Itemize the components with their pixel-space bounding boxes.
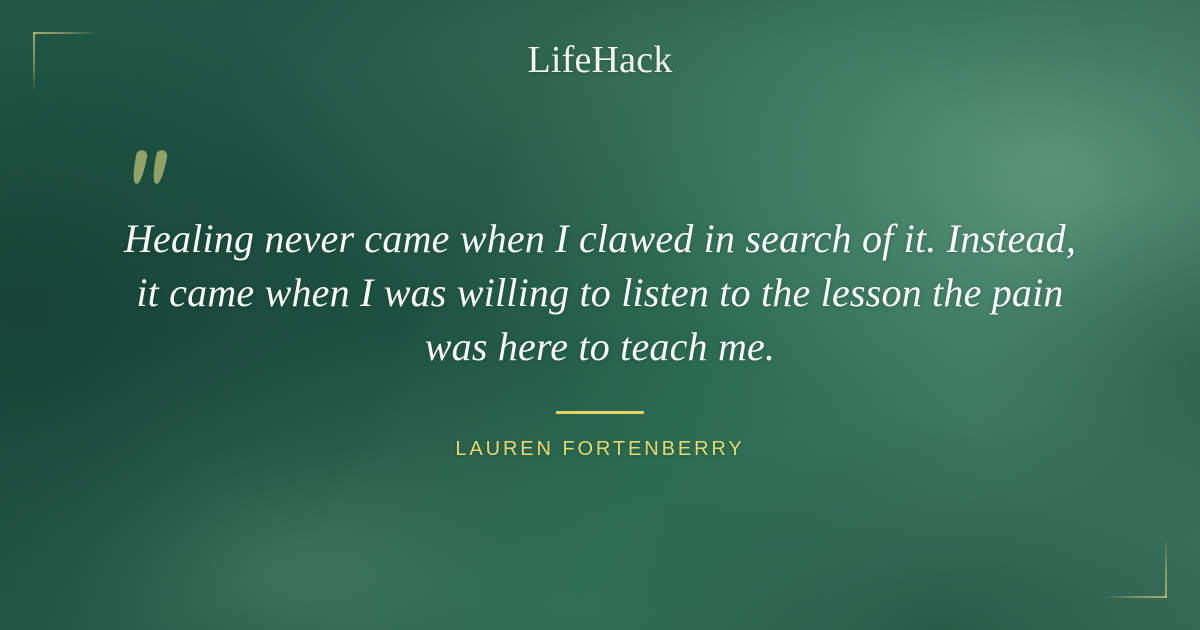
double-quote-icon [132,150,178,190]
author-divider [556,411,644,414]
author-name: LAUREN FORTENBERRY [0,438,1200,461]
quote-line: it came when I was willing to listen to … [90,266,1110,320]
quote-text: Healing never came when I clawed in sear… [90,212,1110,374]
card-content: LifeHack Healing never came when I clawe… [0,0,1200,630]
quote-glyph-left [131,149,148,184]
quote-card: LifeHack Healing never came when I clawe… [0,0,1200,630]
brand-logo[interactable]: LifeHack [0,38,1200,82]
quote-line: was here to teach me. [90,320,1110,374]
quote-line: Healing never came when I clawed in sear… [90,212,1110,266]
quote-glyph-right [151,149,168,184]
